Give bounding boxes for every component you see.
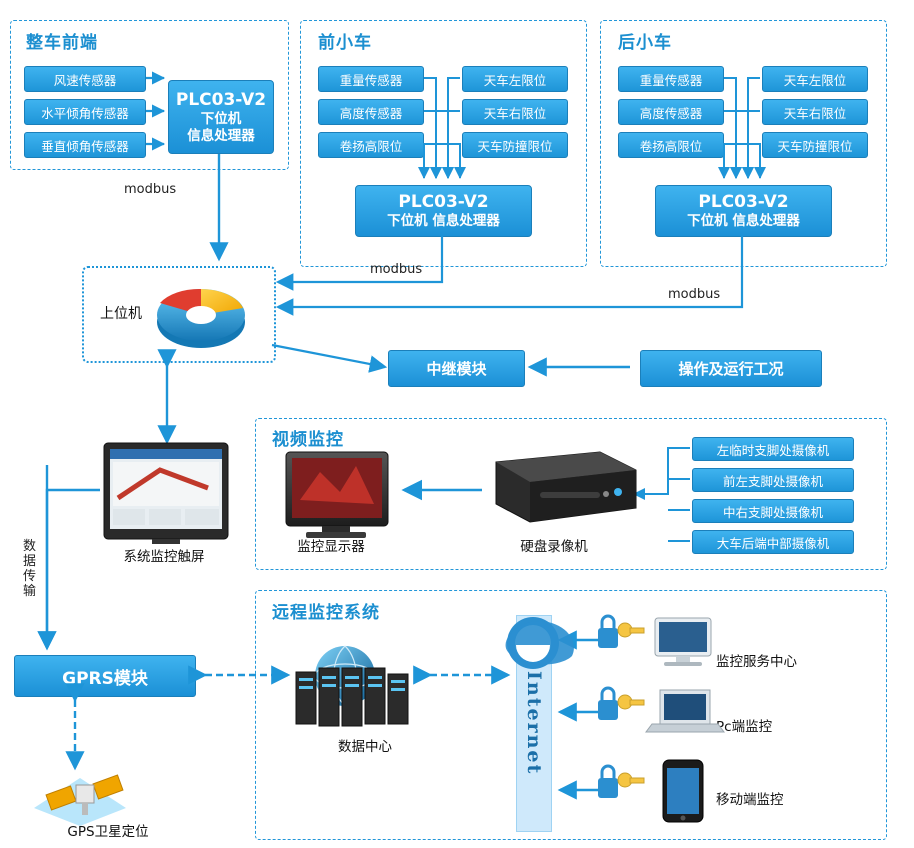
datacenter-caption: 数据中心	[310, 735, 420, 755]
plc-front-vehicle[interactable]: PLC03-V2 下位机 信息处理器	[168, 80, 274, 154]
touch-screen-icon	[104, 443, 228, 544]
rear-trolley-sensor-weight[interactable]: 重量传感器	[618, 66, 724, 92]
gps-satellite-icon	[34, 775, 126, 826]
front-trolley-sensor-hoist-limit[interactable]: 卷扬高限位	[318, 132, 424, 158]
dvr-caption: 硬盘录像机	[494, 535, 614, 555]
plc-rear-trolley-line1: PLC03-V2	[698, 192, 788, 213]
plc-front-vehicle-line1: PLC03-V2	[176, 90, 266, 111]
internet-bar: Internet	[516, 615, 552, 832]
group-remote-title: 远程监控系统	[268, 598, 384, 623]
endpoint-server-center-label: 监控服务中心	[716, 650, 846, 670]
relay-module-button[interactable]: 中继模块	[388, 350, 525, 387]
sensor-wind-speed[interactable]: 风速传感器	[24, 66, 146, 92]
front-trolley-limit-left[interactable]: 天车左限位	[462, 66, 568, 92]
plc-front-vehicle-line2: 下位机	[201, 111, 242, 128]
group-video-title: 视频监控	[268, 425, 348, 450]
rear-trolley-sensor-hoist-limit[interactable]: 卷扬高限位	[618, 132, 724, 158]
group-front-trolley-title: 前小车	[314, 28, 376, 53]
front-trolley-sensor-weight[interactable]: 重量传感器	[318, 66, 424, 92]
endpoint-pc-label: Pc端监控	[716, 715, 846, 735]
rear-trolley-sensor-height[interactable]: 高度传感器	[618, 99, 724, 125]
host-label: 上位机	[100, 303, 142, 323]
group-rear-trolley-title: 后小车	[614, 28, 676, 53]
link-label-modbus-3: modbus	[668, 287, 720, 302]
camera-rear-center[interactable]: 大车后端中部摄像机	[692, 530, 854, 554]
link-label-data-transfer: 数据传输	[23, 540, 39, 600]
operation-status-button[interactable]: 操作及运行工况	[640, 350, 822, 387]
front-trolley-sensor-height[interactable]: 高度传感器	[318, 99, 424, 125]
front-trolley-limit-anticollision[interactable]: 天车防撞限位	[462, 132, 568, 158]
monitor-caption: 监控显示器	[276, 535, 386, 555]
internet-label: Internet	[523, 671, 545, 775]
endpoint-mobile-label: 移动端监控	[716, 788, 846, 808]
camera-left-temp-leg[interactable]: 左临时支脚处摄像机	[692, 437, 854, 461]
plc-front-trolley-line1: PLC03-V2	[398, 192, 488, 213]
plc-front-trolley-line2: 下位机 信息处理器	[387, 213, 500, 230]
link-label-modbus-1: modbus	[124, 182, 176, 197]
camera-front-left-leg[interactable]: 前左支脚处摄像机	[692, 468, 854, 492]
sensor-vertical-tilt[interactable]: 垂直倾角传感器	[24, 132, 146, 158]
plc-rear-trolley[interactable]: PLC03-V2 下位机 信息处理器	[655, 185, 832, 237]
rear-trolley-limit-left[interactable]: 天车左限位	[762, 66, 868, 92]
rear-trolley-limit-anticollision[interactable]: 天车防撞限位	[762, 132, 868, 158]
group-front-vehicle-title: 整车前端	[22, 28, 102, 53]
plc-front-trolley[interactable]: PLC03-V2 下位机 信息处理器	[355, 185, 532, 237]
link-label-modbus-2: modbus	[370, 262, 422, 277]
plc-front-vehicle-line3: 信息处理器	[187, 128, 255, 145]
rear-trolley-limit-right[interactable]: 天车右限位	[762, 99, 868, 125]
camera-mid-right-leg[interactable]: 中右支脚处摄像机	[692, 499, 854, 523]
gprs-module-button[interactable]: GPRS模块	[14, 655, 196, 697]
front-trolley-limit-right[interactable]: 天车右限位	[462, 99, 568, 125]
sensor-horizontal-tilt[interactable]: 水平倾角传感器	[24, 99, 146, 125]
gps-caption: GPS卫星定位	[48, 820, 168, 840]
touch-screen-caption: 系统监控触屏	[104, 545, 224, 565]
plc-rear-trolley-line2: 下位机 信息处理器	[687, 213, 800, 230]
